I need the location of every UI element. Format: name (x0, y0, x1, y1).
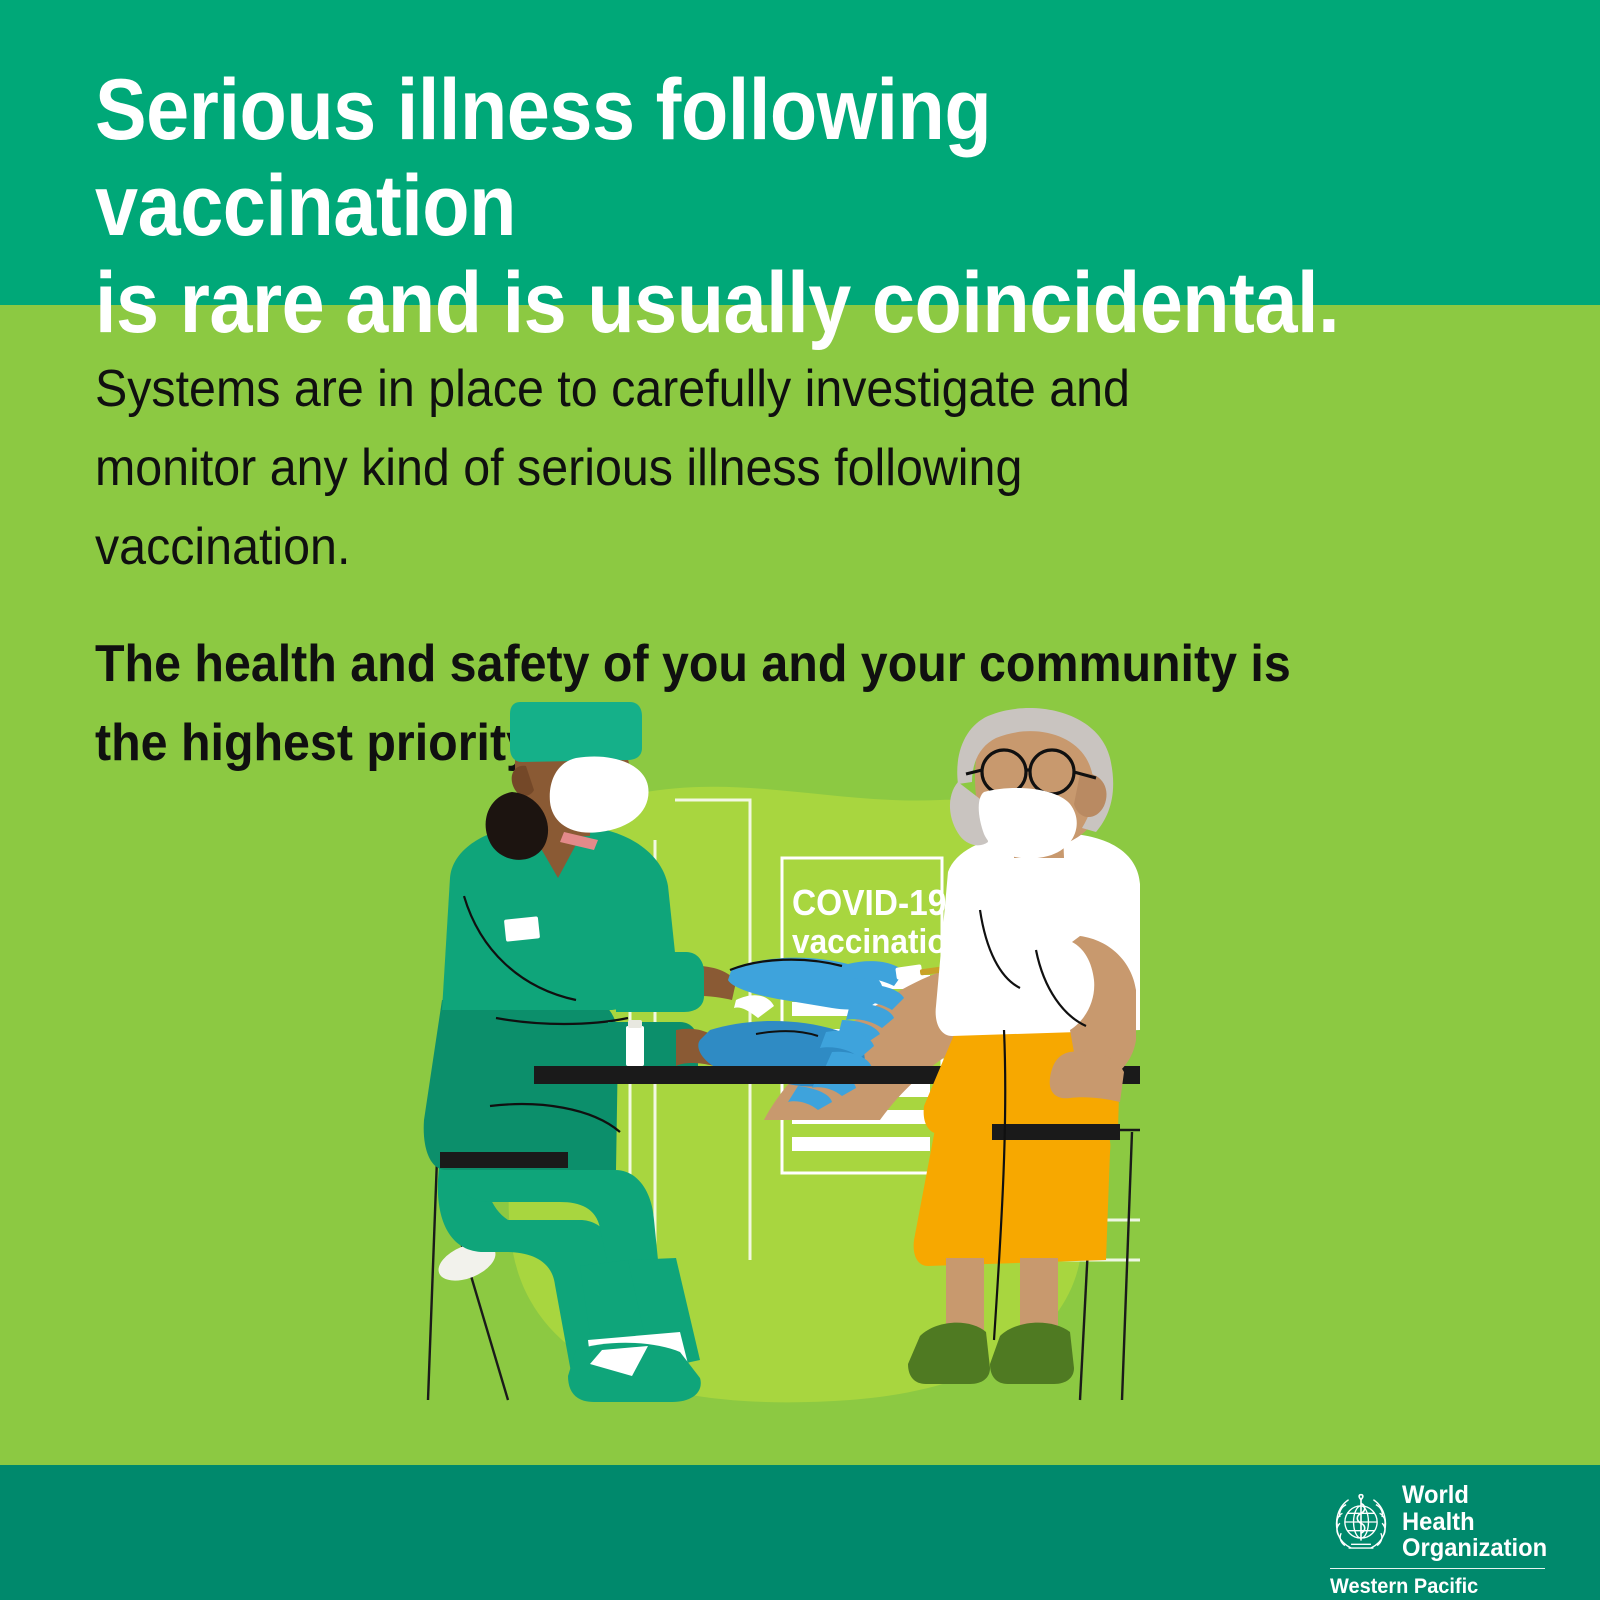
nurse-badge (504, 916, 540, 941)
who-region-label: Western Pacific Region (1330, 1575, 1534, 1600)
who-org-line1: World Health (1402, 1481, 1475, 1536)
nurse-sleeve-upper (616, 952, 704, 1012)
page-title: Serious illness following vaccination is… (95, 62, 1382, 351)
poster-root: Serious illness following vaccination is… (0, 0, 1600, 1600)
poster-title-line1: COVID-19 (792, 884, 946, 923)
poster-title-line2: vaccination (792, 922, 966, 960)
nurse-hip (424, 1000, 619, 1170)
vaccine-vial (626, 1020, 644, 1066)
who-logo-top: World HealthOrganization (1330, 1482, 1555, 1562)
paragraph-systems-in-place: Systems are in place to carefully invest… (95, 350, 1397, 587)
who-organization-name: World HealthOrganization (1402, 1482, 1547, 1562)
header-band: Serious illness following vaccination is… (0, 0, 1600, 305)
who-org-line2: Organization (1402, 1534, 1547, 1562)
who-logo: World HealthOrganization Western Pacific… (1330, 1482, 1545, 1600)
who-logo-divider (1330, 1568, 1545, 1570)
nurse-cap (510, 702, 642, 762)
chair-seat-left (440, 1152, 568, 1168)
who-emblem-icon (1330, 1491, 1392, 1553)
patient-pants-lower (914, 1124, 1111, 1266)
vaccination-illustration: COVID-19 vaccination (380, 700, 1140, 1420)
chair-seat-right (992, 1124, 1120, 1140)
